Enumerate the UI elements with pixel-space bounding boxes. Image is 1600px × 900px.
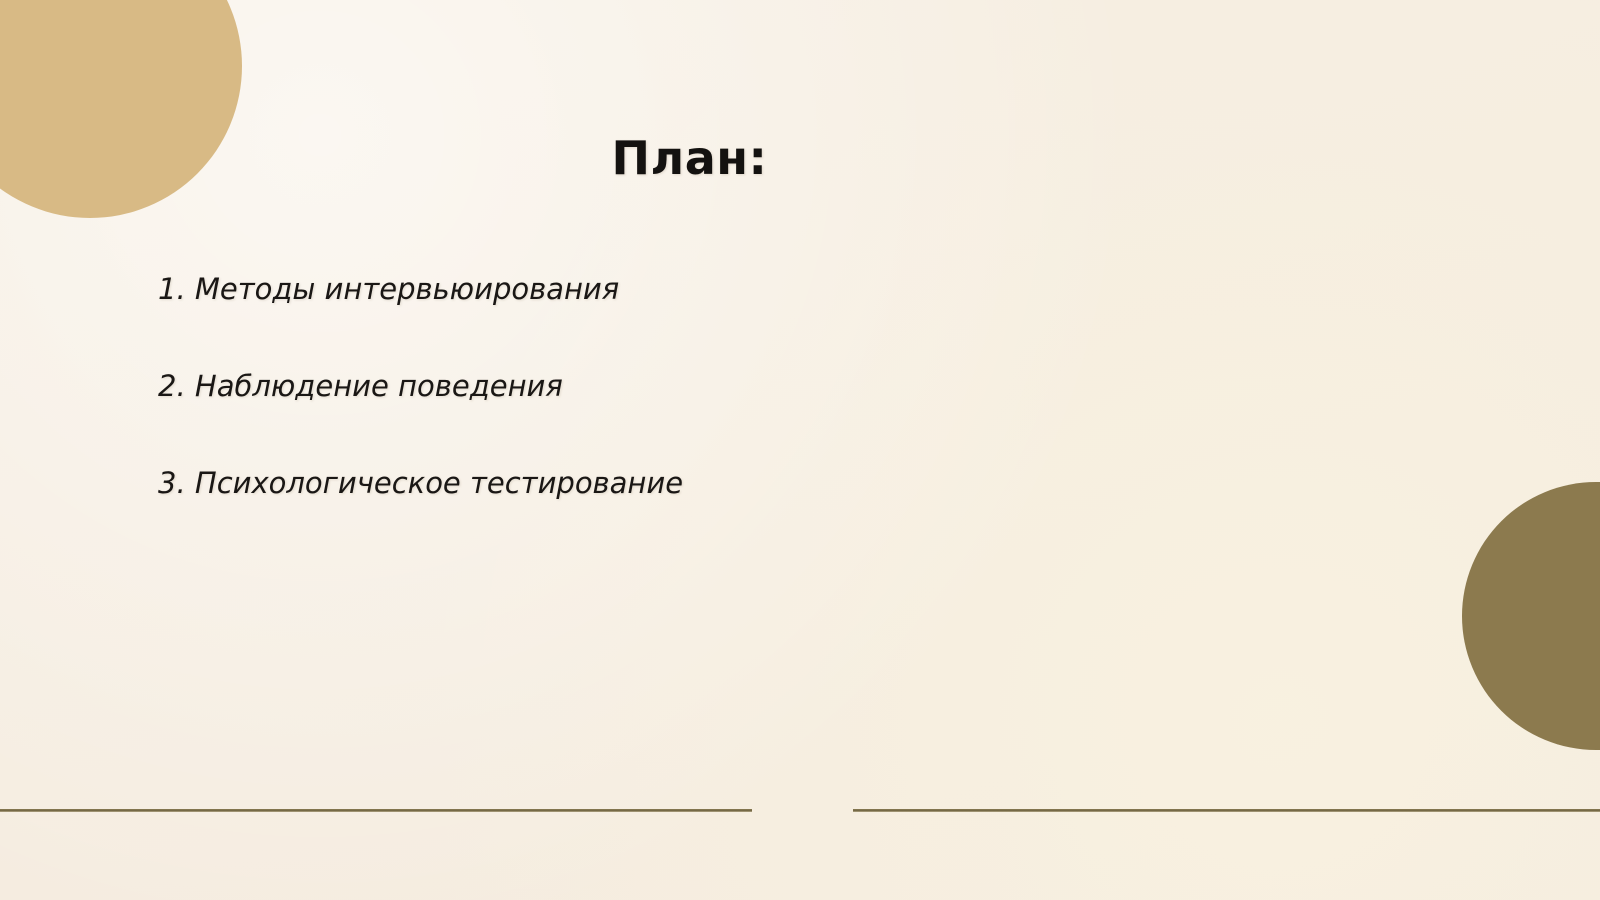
page-title: План: (0, 131, 1379, 185)
plan-list: 1. Методы интервьюирования 2. Наблюдение… (158, 275, 683, 498)
decorative-circle-bottom-right-icon (1462, 482, 1600, 750)
presentation-slide: План: 1. Методы интервьюирования 2. Набл… (0, 0, 1600, 900)
decorative-circle-top-left-icon (0, 0, 242, 218)
list-item: 3. Психологическое тестирование (158, 469, 683, 498)
list-item: 1. Методы интервьюирования (158, 275, 683, 304)
footer-divider-right (853, 809, 1600, 812)
footer-divider-left (0, 809, 752, 812)
list-item: 2. Наблюдение поведения (158, 372, 683, 401)
